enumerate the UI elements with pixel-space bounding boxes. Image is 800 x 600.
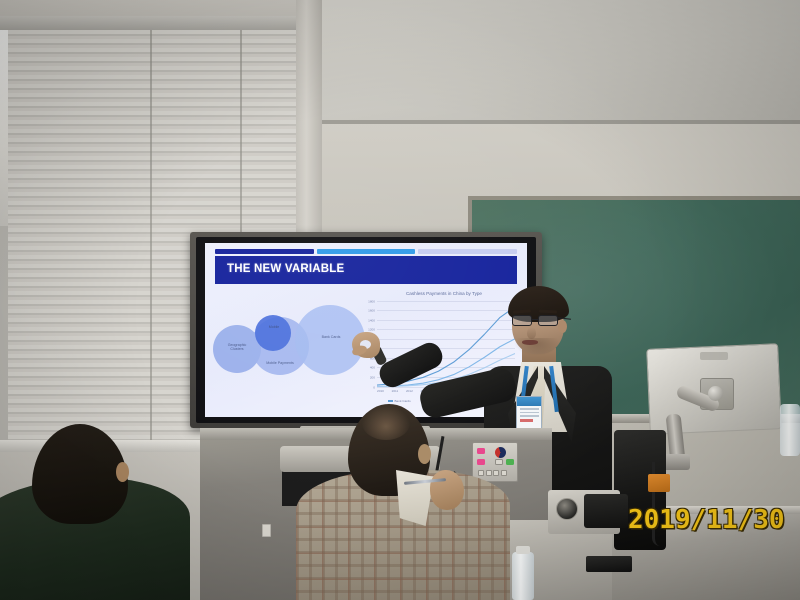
eyeglass-temple [558,317,571,320]
control-panel-row-3 [495,459,514,465]
presenter-conference-badge [516,396,542,429]
bubble-label-bank-cards: Bank Cards [315,335,347,339]
ceiling [300,0,800,130]
y-tick-label: 1600 [368,309,375,313]
attendee-plaid-jacket-hand [430,470,464,510]
monitor-ball-joint[interactable] [708,386,723,401]
attendee-green-jacket-ear [116,462,129,482]
control-panel-small-row [478,470,507,476]
document-camera-body [584,494,628,528]
y-tick-label: 400 [370,366,375,370]
control-button-pink-1[interactable] [477,448,485,454]
presenter-nose [527,327,536,339]
eyeglass-lens-left [512,315,532,326]
badge-header [517,397,541,406]
progress-segment-2 [317,249,416,254]
legend-item: Bank Cards [388,399,411,403]
badge-accent-mark [520,419,533,421]
control-button-gray-1[interactable] [495,459,503,465]
y-tick-label: 200 [370,375,375,379]
bubble-diagram: GeographicClusters Mobile Mobile Payment… [211,291,351,409]
av-control-panel[interactable] [472,442,518,482]
slide-progress-bar [215,249,517,254]
progress-segment-3 [418,249,517,254]
bubble-label-geographic-clusters: GeographicClusters [221,343,253,352]
water-bottle-center [512,552,534,600]
document-camera-lens [556,498,578,520]
attendee-plaid-jacket-ear [418,444,431,464]
control-button-pink-2[interactable] [477,459,485,465]
control-panel-row-1 [477,448,485,454]
blinds-headrail [0,16,300,30]
bubble-label-mobile: Mobile [263,325,285,329]
bubble-mobile-overlap [255,315,291,351]
control-panel-row-2 [477,459,485,465]
water-bottle-cap [516,546,530,554]
control-small-button-1[interactable] [478,470,484,476]
eyeglass-bridge [532,319,538,320]
av-equipment-orange-panel [648,474,670,492]
y-tick-label: 0 [373,386,375,390]
control-knob[interactable] [495,447,506,458]
badge-text-line [520,408,539,410]
bubble-label-mobile-payments: Mobile Payments [259,361,301,365]
control-small-button-4[interactable] [501,470,507,476]
eyeglass-lens-right [538,315,558,326]
camera-date-stamp: 2019/11/30 [628,505,785,535]
x-tick-label: 2011 [392,389,399,393]
wall-pillar [296,0,322,250]
blinds-seam [150,30,152,440]
photograph-classroom-presentation: THE NEW VARIABLE GeographicClusters Mobi… [0,0,800,600]
x-tick-label: 2010 [377,389,384,393]
control-small-button-2[interactable] [486,470,492,476]
legend-label: Bank Cards [394,399,410,403]
presenter-eyeglasses [510,315,568,326]
slide-title: THE NEW VARIABLE [227,263,344,275]
control-small-button-3[interactable] [493,470,499,476]
held-eyeglasses [404,478,446,486]
progress-segment-1 [215,249,314,254]
desk-remote[interactable] [586,556,632,572]
legend-swatch [388,400,393,401]
monitor-vent [700,352,728,360]
wall-outlet[interactable] [262,524,271,537]
y-tick-label: 1800 [368,300,375,304]
badge-text-line [520,412,539,414]
water-bottle-right [780,404,800,456]
control-button-green[interactable] [506,459,514,465]
badge-text-line [520,415,539,417]
y-tick-label: 1400 [368,319,375,323]
presenter-mouth [522,340,538,345]
attendee-plaid-jacket-scalp [362,406,410,440]
